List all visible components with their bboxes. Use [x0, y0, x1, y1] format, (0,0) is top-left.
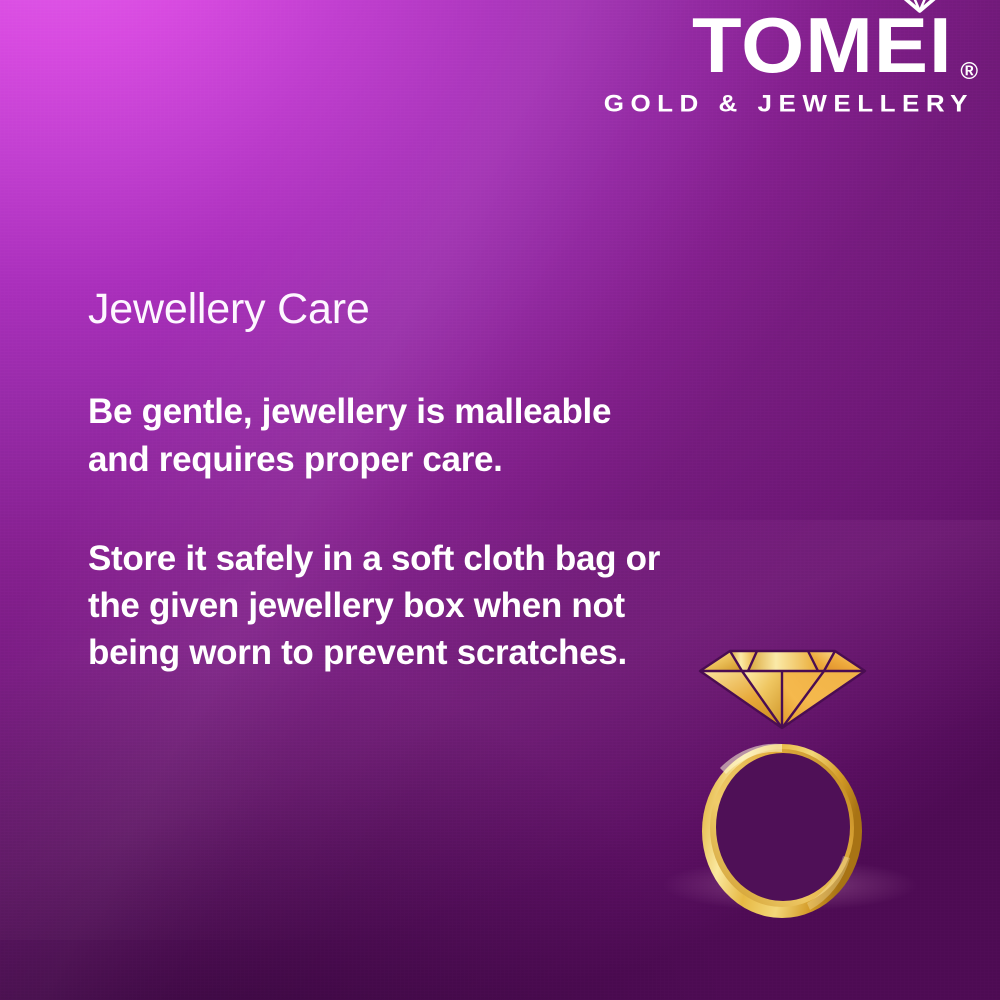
care-paragraph-2: Store it safely in a soft cloth bag or t… — [88, 535, 668, 677]
logo-wordmark-text: TOMEI — [692, 1, 953, 89]
logo-wordmark: TOMEI — [692, 8, 953, 82]
gold-ring-band — [702, 744, 862, 918]
care-paragraph-1: Be gentle, jewellery is malleable and re… — [88, 388, 668, 483]
poster-canvas: TOMEI ® GOLD & JEWELLERY Jewellery Care … — [0, 0, 1000, 1000]
logo-tagline: GOLD & JEWELLERY — [604, 89, 978, 118]
page-title: Jewellery Care — [88, 286, 668, 332]
registered-trademark-symbol: ® — [960, 60, 978, 84]
brand-logo: TOMEI ® GOLD & JEWELLERY — [604, 8, 978, 119]
diamond-outline-icon — [889, 0, 949, 13]
diamond-ring-illustration — [690, 628, 890, 928]
diamond-gem-icon — [700, 651, 865, 728]
logo-wordmark-row: TOMEI ® — [604, 8, 978, 84]
care-copy-block: Jewellery Care Be gentle, jewellery is m… — [88, 286, 668, 677]
